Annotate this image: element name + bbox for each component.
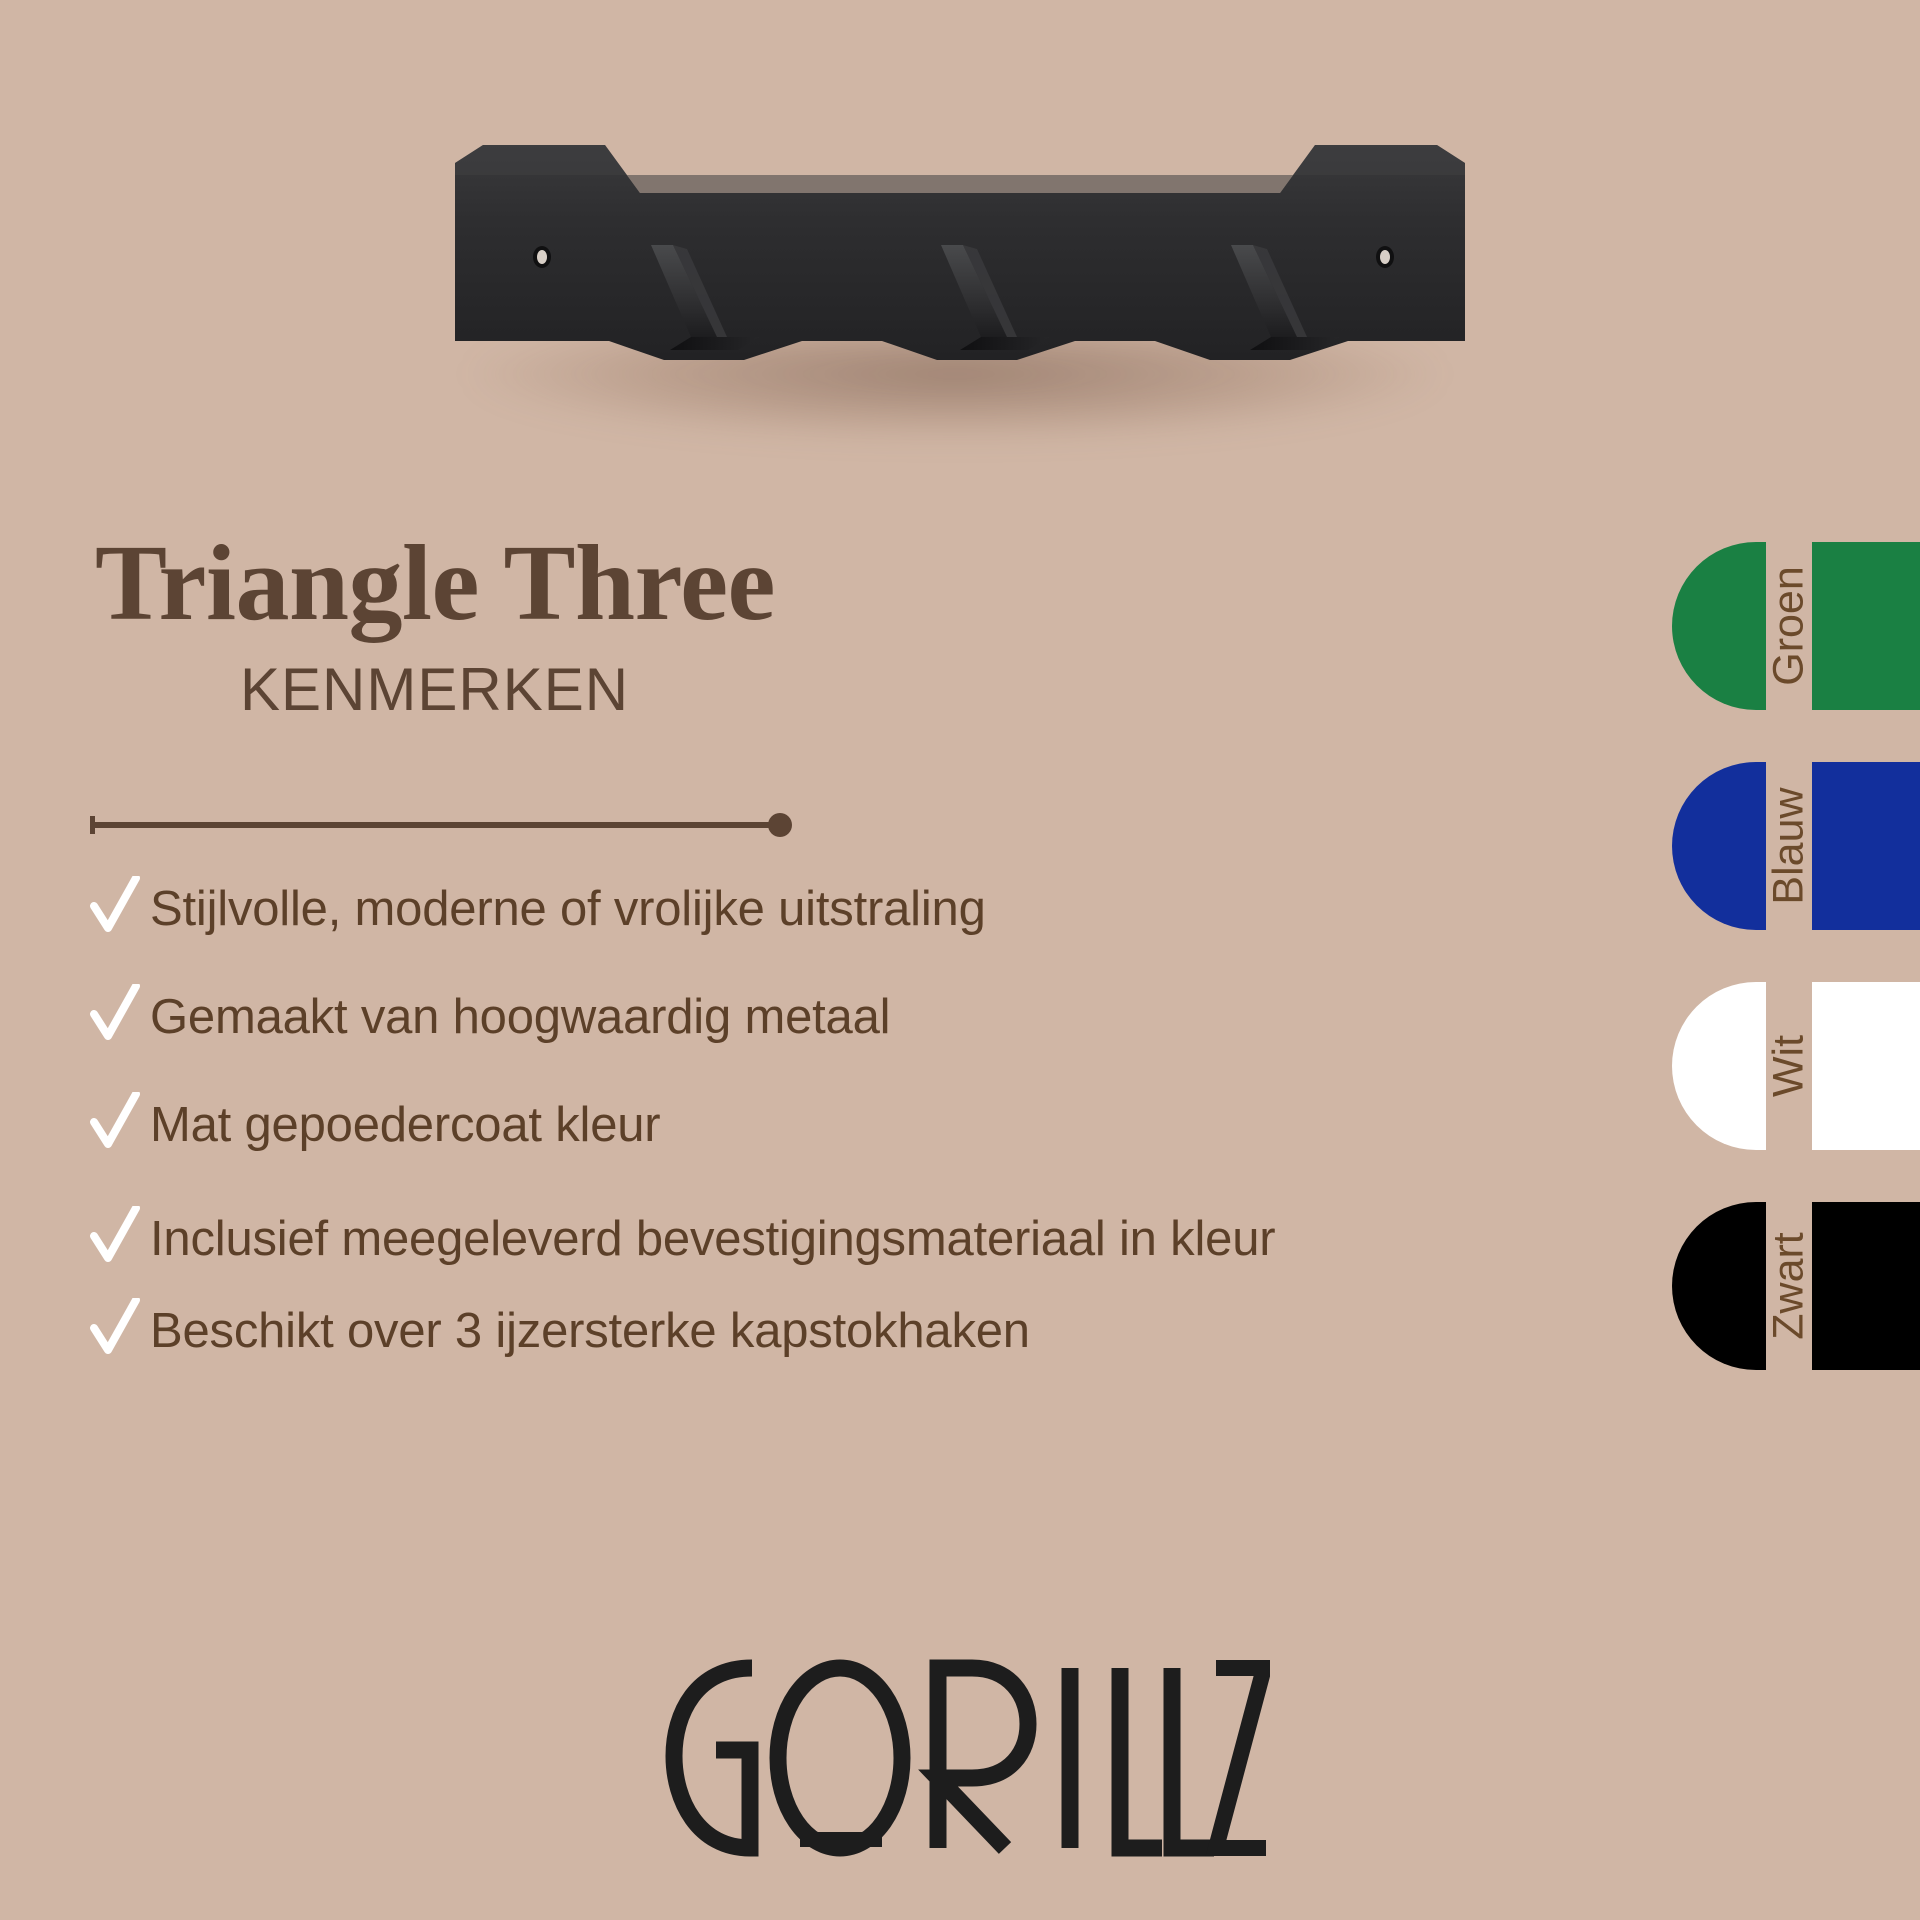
- feature-text: Mat gepoedercoat kleur: [150, 1096, 660, 1156]
- list-item: Stijlvolle, moderne of vrolijke uitstral…: [88, 880, 986, 942]
- page-title: Triangle Three: [95, 530, 1345, 638]
- swatch-zwart[interactable]: Zwart: [1500, 1202, 1920, 1370]
- swatch-blauw[interactable]: Blauw: [1500, 762, 1920, 930]
- gorillz-logo-svg: [650, 1650, 1270, 1880]
- swatch-block: [1812, 1202, 1920, 1370]
- feature-text: Stijlvolle, moderne of vrolijke uitstral…: [150, 880, 986, 940]
- feature-text: Gemaakt van hoogwaardig metaal: [150, 988, 890, 1048]
- swatch-dome: [1672, 1202, 1766, 1370]
- swatch-dome: [1672, 762, 1766, 930]
- coat-rack-svg: [455, 145, 1465, 370]
- swatch-groen[interactable]: Groen: [1500, 542, 1920, 710]
- title-block: Triangle Three KENMERKEN: [95, 530, 1345, 720]
- infographic-canvas: Triangle Three KENMERKEN Stijlvolle, mod…: [0, 0, 1920, 1920]
- swatch-block: [1812, 982, 1920, 1150]
- brand-logo-wordmark: [650, 1650, 1270, 1885]
- divider-line: [90, 822, 778, 828]
- list-item: Mat gepoedercoat kleur: [88, 1096, 660, 1158]
- check-icon: [88, 1206, 144, 1268]
- swatch-label-wrap: Zwart: [1766, 1202, 1812, 1370]
- product-coat-rack: [455, 145, 1465, 370]
- list-item: Inclusief meegeleverd bevestigingsmateri…: [88, 1210, 1278, 1272]
- brand-logo: [0, 1650, 1920, 1885]
- swatch-label: Groen: [1765, 566, 1814, 686]
- check-icon: [88, 1092, 144, 1154]
- swatch-block: [1812, 542, 1920, 710]
- list-item: Beschikt over 3 ijzersterke kapstokhaken: [88, 1302, 1030, 1364]
- product-image-area: [0, 0, 1920, 470]
- swatch-label-wrap: Wit: [1766, 982, 1812, 1150]
- swatch-label-wrap: Groen: [1766, 542, 1812, 710]
- swatch-block: [1812, 762, 1920, 930]
- feature-text: Inclusief meegeleverd bevestigingsmateri…: [150, 1210, 1275, 1270]
- rack-screw-hole-right: [1376, 246, 1394, 268]
- swatch-label: Wit: [1765, 1035, 1814, 1097]
- check-icon: [88, 984, 144, 1046]
- swatch-label: Blauw: [1765, 787, 1814, 904]
- divider-end-dot: [768, 813, 792, 837]
- section-heading: KENMERKEN: [240, 660, 1345, 720]
- swatch-label: Zwart: [1765, 1232, 1814, 1340]
- logo-o-underline: [800, 1832, 882, 1847]
- swatch-wit[interactable]: Wit: [1500, 982, 1920, 1150]
- check-icon: [88, 1298, 144, 1360]
- check-icon: [88, 876, 144, 938]
- swatch-label-wrap: Blauw: [1766, 762, 1812, 930]
- swatch-dome: [1672, 982, 1766, 1150]
- list-item: Gemaakt van hoogwaardig metaal: [88, 988, 890, 1050]
- feature-text: Beschikt over 3 ijzersterke kapstokhaken: [150, 1302, 1030, 1362]
- divider: [90, 812, 800, 838]
- swatch-dome: [1672, 542, 1766, 710]
- rack-screw-hole-left: [533, 246, 551, 268]
